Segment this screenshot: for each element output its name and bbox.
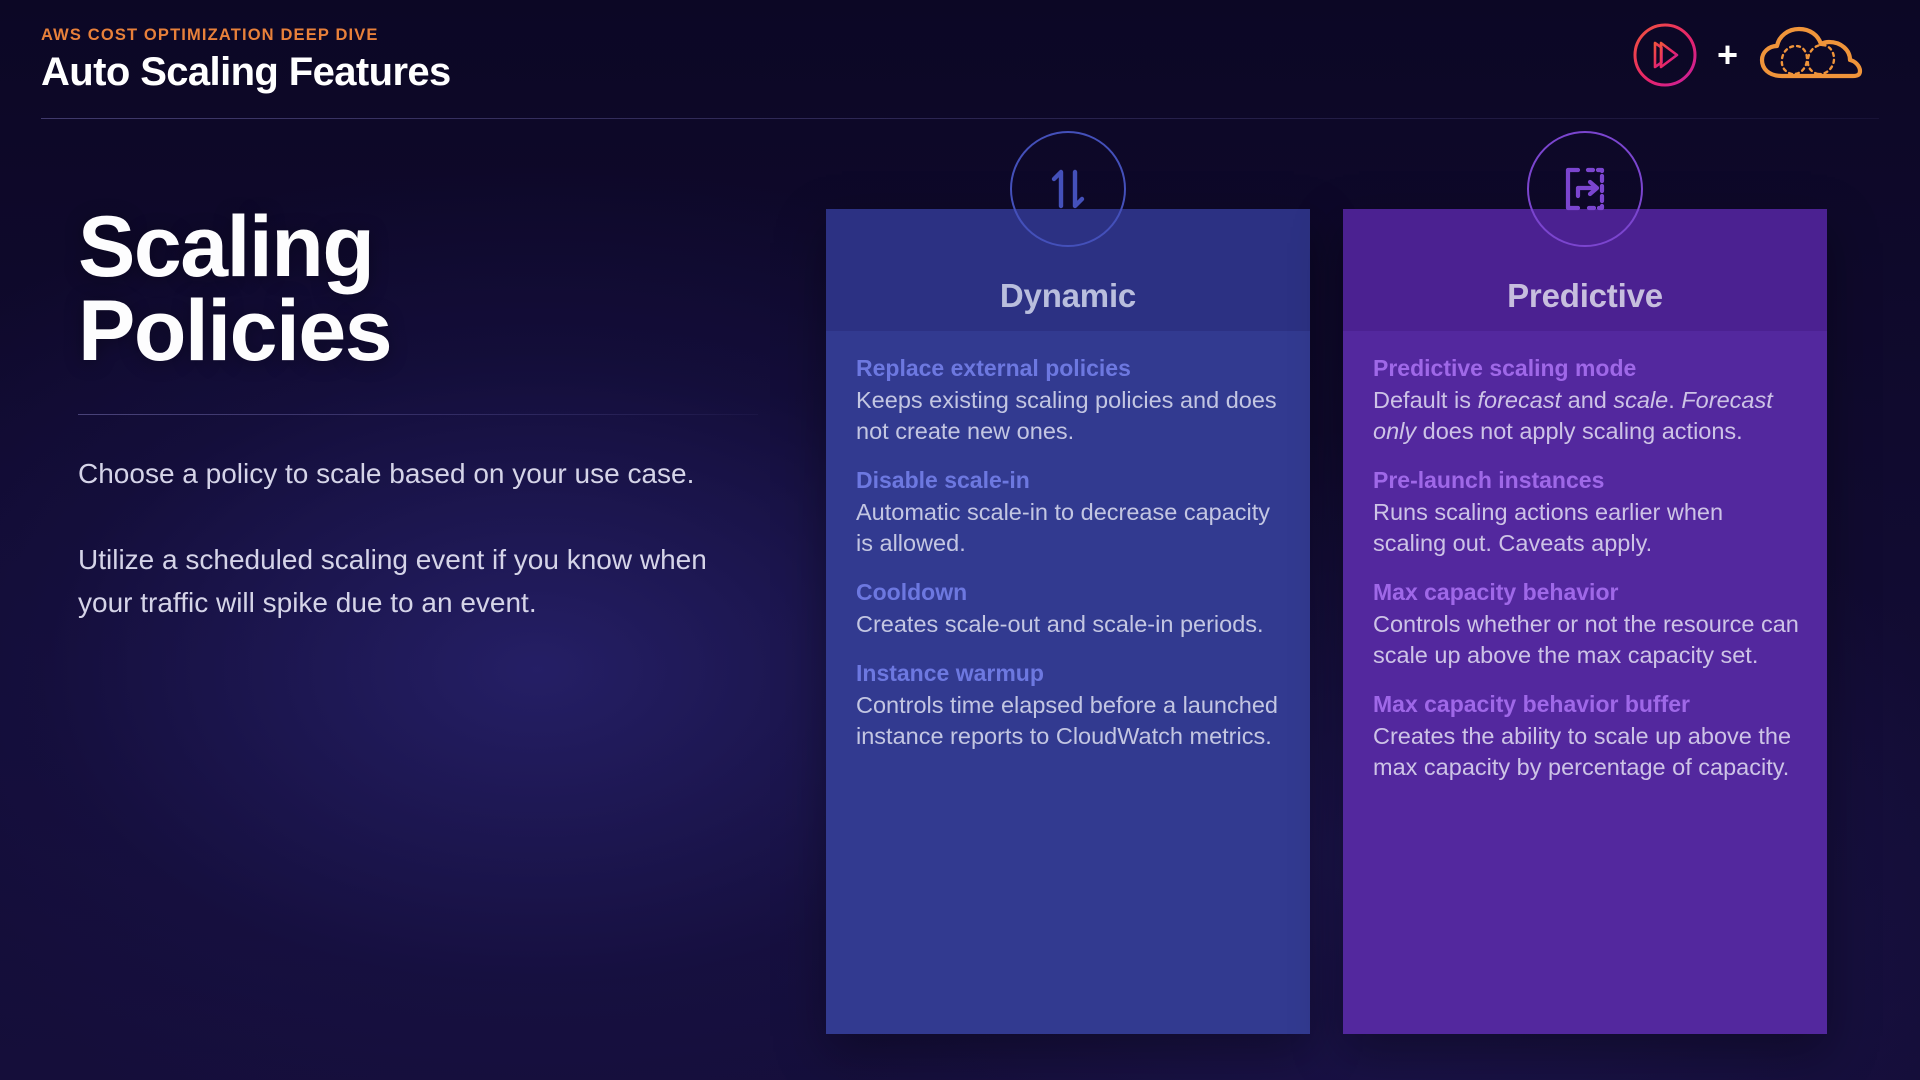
policy-card-predictive-body: Predictive scaling mode Default is forec… bbox=[1343, 331, 1827, 1034]
feature-title: Cooldown bbox=[856, 579, 1282, 607]
section-heading-line-1: Scaling bbox=[78, 205, 758, 289]
policy-card-dynamic-body: Replace external policies Keeps existing… bbox=[826, 331, 1310, 1034]
deck-eyebrow: AWS COST OPTIMIZATION DEEP DIVE bbox=[41, 26, 379, 45]
feature-description: Keeps existing scaling policies and does… bbox=[856, 385, 1282, 448]
feature-description: Controls time elapsed before a launched … bbox=[856, 690, 1282, 753]
policy-card-predictive-header: Predictive bbox=[1343, 209, 1827, 331]
feature-title: Pre-launch instances bbox=[1373, 467, 1799, 495]
page-title: Auto Scaling Features bbox=[41, 50, 451, 95]
slide-header: AWS COST OPTIMIZATION DEEP DIVE Auto Sca… bbox=[0, 0, 1920, 130]
feature-description: Default is forecast and scale. Forecast … bbox=[1373, 385, 1799, 448]
forecast-arrow-icon bbox=[1527, 131, 1643, 247]
policy-card-predictive-title: Predictive bbox=[1507, 277, 1663, 315]
feature-description: Runs scaling actions earlier when scalin… bbox=[1373, 497, 1799, 560]
feature-description: Creates the ability to scale up above th… bbox=[1373, 721, 1799, 784]
logo-lockup: + bbox=[1631, 22, 1874, 92]
feature-item: Cooldown Creates scale-out and scale-in … bbox=[856, 579, 1282, 640]
section-paragraph-1: Choose a policy to scale based on your u… bbox=[78, 453, 718, 496]
feature-item: Max capacity behavior buffer Creates the… bbox=[1373, 691, 1799, 783]
policy-card-dynamic-header: Dynamic bbox=[826, 209, 1310, 331]
feature-title: Instance warmup bbox=[856, 660, 1282, 688]
section-paragraph-2: Utilize a scheduled scaling event if you… bbox=[78, 539, 718, 624]
slide-canvas: AWS COST OPTIMIZATION DEEP DIVE Auto Sca… bbox=[0, 0, 1920, 1080]
policy-card-dynamic-title: Dynamic bbox=[1000, 277, 1136, 315]
plus-separator: + bbox=[1717, 37, 1738, 77]
feature-title: Replace external policies bbox=[856, 355, 1282, 383]
feature-title: Disable scale-in bbox=[856, 467, 1282, 495]
feature-description: Automatic scale-in to decrease capacity … bbox=[856, 497, 1282, 560]
feature-item: Predictive scaling mode Default is forec… bbox=[1373, 355, 1799, 447]
feature-title: Predictive scaling mode bbox=[1373, 355, 1799, 383]
header-divider bbox=[41, 118, 1879, 119]
feature-item: Disable scale-in Automatic scale-in to d… bbox=[856, 467, 1282, 559]
feature-title: Max capacity behavior buffer bbox=[1373, 691, 1799, 719]
play-triangle-logo bbox=[1631, 21, 1699, 94]
feature-item: Max capacity behavior Controls whether o… bbox=[1373, 579, 1799, 671]
section-heading: Scaling Policies bbox=[78, 205, 758, 374]
feature-title: Max capacity behavior bbox=[1373, 579, 1799, 607]
up-down-arrows-icon bbox=[1010, 131, 1126, 247]
feature-description: Creates scale-out and scale-in periods. bbox=[856, 609, 1282, 640]
policy-card-dynamic[interactable]: Dynamic Replace external policies Keeps … bbox=[826, 209, 1310, 1034]
feature-item: Pre-launch instances Runs scaling action… bbox=[1373, 467, 1799, 559]
section-body: Choose a policy to scale based on your u… bbox=[78, 453, 758, 625]
policy-card-predictive[interactable]: Predictive Predictive scaling mode Defau… bbox=[1343, 209, 1827, 1034]
feature-description: Controls whether or not the resource can… bbox=[1373, 609, 1799, 672]
aws-cloud-logo bbox=[1756, 24, 1874, 91]
left-column: Scaling Policies Choose a policy to scal… bbox=[78, 205, 758, 624]
feature-item: Replace external policies Keeps existing… bbox=[856, 355, 1282, 447]
feature-item: Instance warmup Controls time elapsed be… bbox=[856, 660, 1282, 752]
section-heading-line-2: Policies bbox=[78, 289, 758, 373]
section-divider bbox=[78, 414, 758, 415]
